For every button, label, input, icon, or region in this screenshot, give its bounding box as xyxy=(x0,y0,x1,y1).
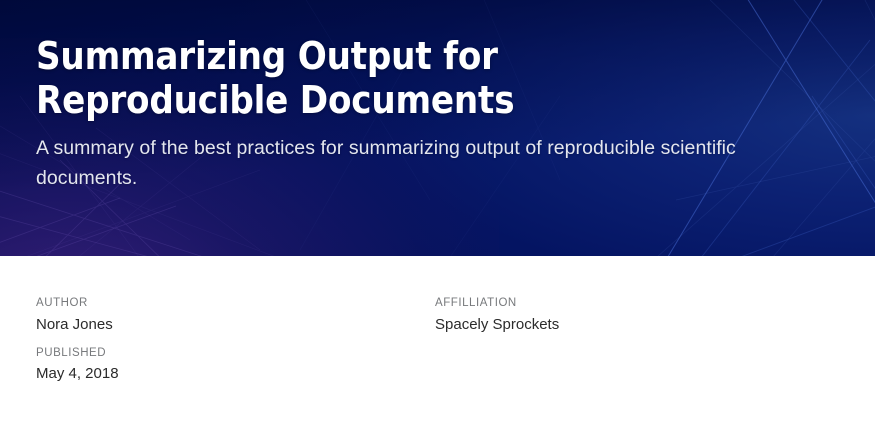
published-value: May 4, 2018 xyxy=(36,362,435,385)
metadata-field-affiliation: AFFILLIATION Spacely Sprockets xyxy=(435,296,839,336)
page-subtitle: A summary of the best practices for summ… xyxy=(36,134,806,194)
metadata-field-published: PUBLISHED May 4, 2018 xyxy=(36,346,435,386)
page-title: Summarizing Output for Reproducible Docu… xyxy=(36,34,736,123)
article-hero-banner: Summarizing Output for Reproducible Docu… xyxy=(0,0,875,256)
affiliation-label: AFFILLIATION xyxy=(435,296,839,312)
affiliation-value: Spacely Sprockets xyxy=(435,313,839,336)
metadata-column-author: AUTHOR Nora Jones PUBLISHED May 4, 2018 xyxy=(36,296,435,387)
author-label: AUTHOR xyxy=(36,296,435,312)
published-label: PUBLISHED xyxy=(36,346,435,362)
author-value: Nora Jones xyxy=(36,313,435,336)
metadata-field-author: AUTHOR Nora Jones xyxy=(36,296,435,336)
metadata-column-affiliation: AFFILLIATION Spacely Sprockets xyxy=(435,296,839,387)
hero-text-content: Summarizing Output for Reproducible Docu… xyxy=(0,0,875,194)
article-metadata: AUTHOR Nora Jones PUBLISHED May 4, 2018 … xyxy=(0,256,875,387)
